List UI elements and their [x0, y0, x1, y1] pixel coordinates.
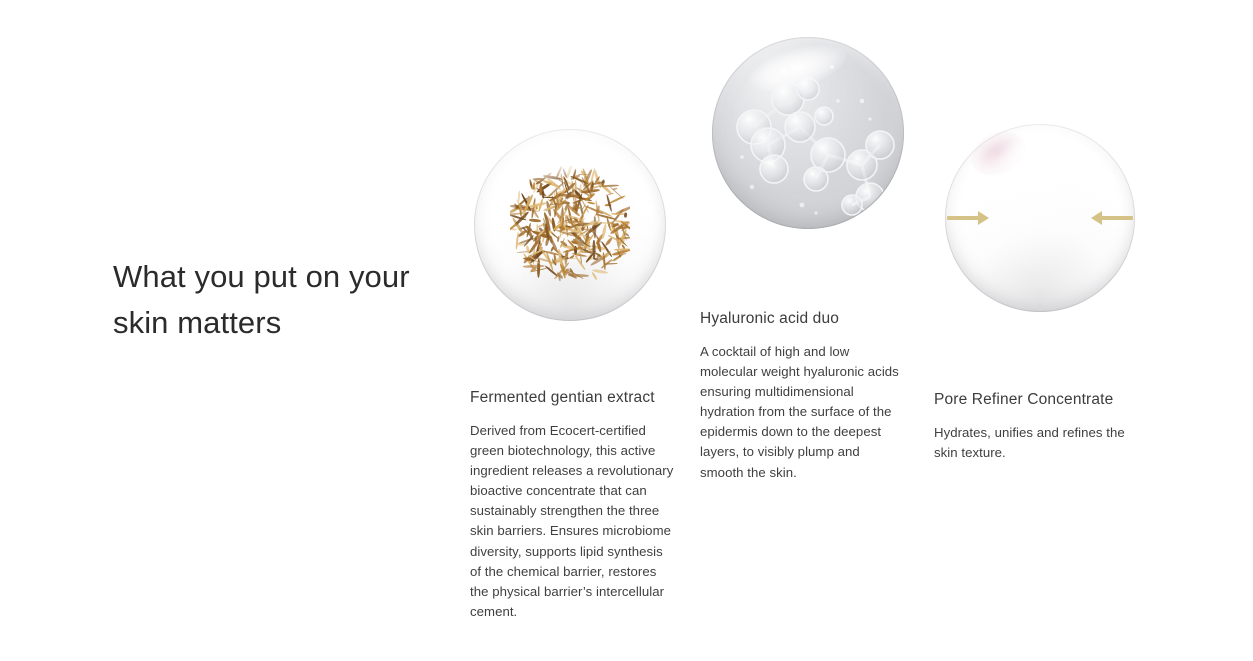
- root-fiber: [549, 235, 553, 244]
- page-title: What you put on your skin matters: [113, 254, 473, 346]
- root-fiber: [517, 190, 520, 202]
- ingredient-column-gentian: Fermented gentian extract Derived from E…: [470, 388, 675, 622]
- ingredient-title: Hyaluronic acid duo: [700, 309, 905, 329]
- arrow-shaft: [947, 216, 980, 220]
- ingredient-title: Fermented gentian extract: [470, 388, 675, 408]
- arrow-head: [978, 211, 989, 225]
- root-fiber: [593, 240, 596, 259]
- arrow-head: [1091, 211, 1102, 225]
- root-fiber: [566, 221, 584, 223]
- hyaluronic-molecule-sphere-image: [712, 37, 904, 229]
- root-fiber: [529, 219, 541, 223]
- root-fiber: [624, 212, 627, 218]
- ingredient-column-hyaluronic: Hyaluronic acid duo A cocktail of high a…: [700, 309, 905, 483]
- arrow-shaft: [1100, 216, 1133, 220]
- ingredient-description: Hydrates, unifies and refines the skin t…: [934, 423, 1134, 463]
- gentian-root-sphere-image: [474, 129, 666, 321]
- ingredient-column-pore-refiner: Pore Refiner Concentrate Hydrates, unifi…: [934, 390, 1134, 463]
- gentian-fiber-cluster: [510, 166, 630, 284]
- ingredient-description: Derived from Ecocert-certified green bio…: [470, 421, 675, 622]
- gold-core-icon: [994, 170, 1086, 262]
- root-fiber: [604, 237, 613, 246]
- ingredient-description: A cocktail of high and low molecular wei…: [700, 342, 905, 483]
- root-fiber: [539, 183, 542, 195]
- pore-refiner-sphere-image: [945, 124, 1135, 312]
- root-fiber: [602, 224, 608, 239]
- ingredient-title: Pore Refiner Concentrate: [934, 390, 1134, 410]
